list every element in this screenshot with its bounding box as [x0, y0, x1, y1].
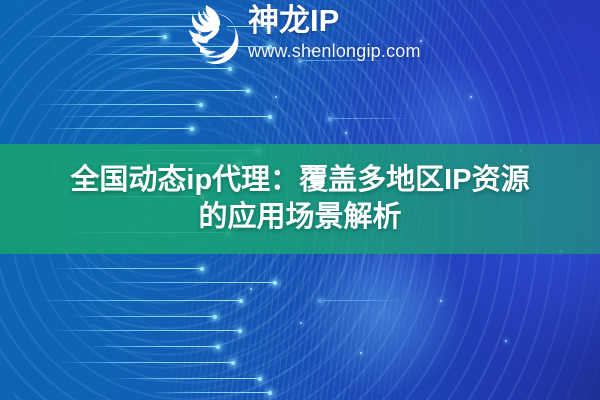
brand-logo[interactable]: 神龙IP www.shenlongip.com [186, 2, 421, 68]
dragon-head-icon [186, 2, 242, 68]
page-title-line-2: 的应用场景解析 [198, 199, 401, 236]
brand-url: www.shenlongip.com [248, 42, 421, 60]
page-title-line-1: 全国动态ip代理：覆盖多地区IP资源 [70, 162, 529, 199]
brand-name: 神龙IP [248, 5, 421, 36]
title-band: 全国动态ip代理：覆盖多地区IP资源 的应用场景解析 [0, 144, 600, 254]
promo-banner: 神龙IP www.shenlongip.com 全国动态ip代理：覆盖多地区IP… [0, 0, 600, 400]
